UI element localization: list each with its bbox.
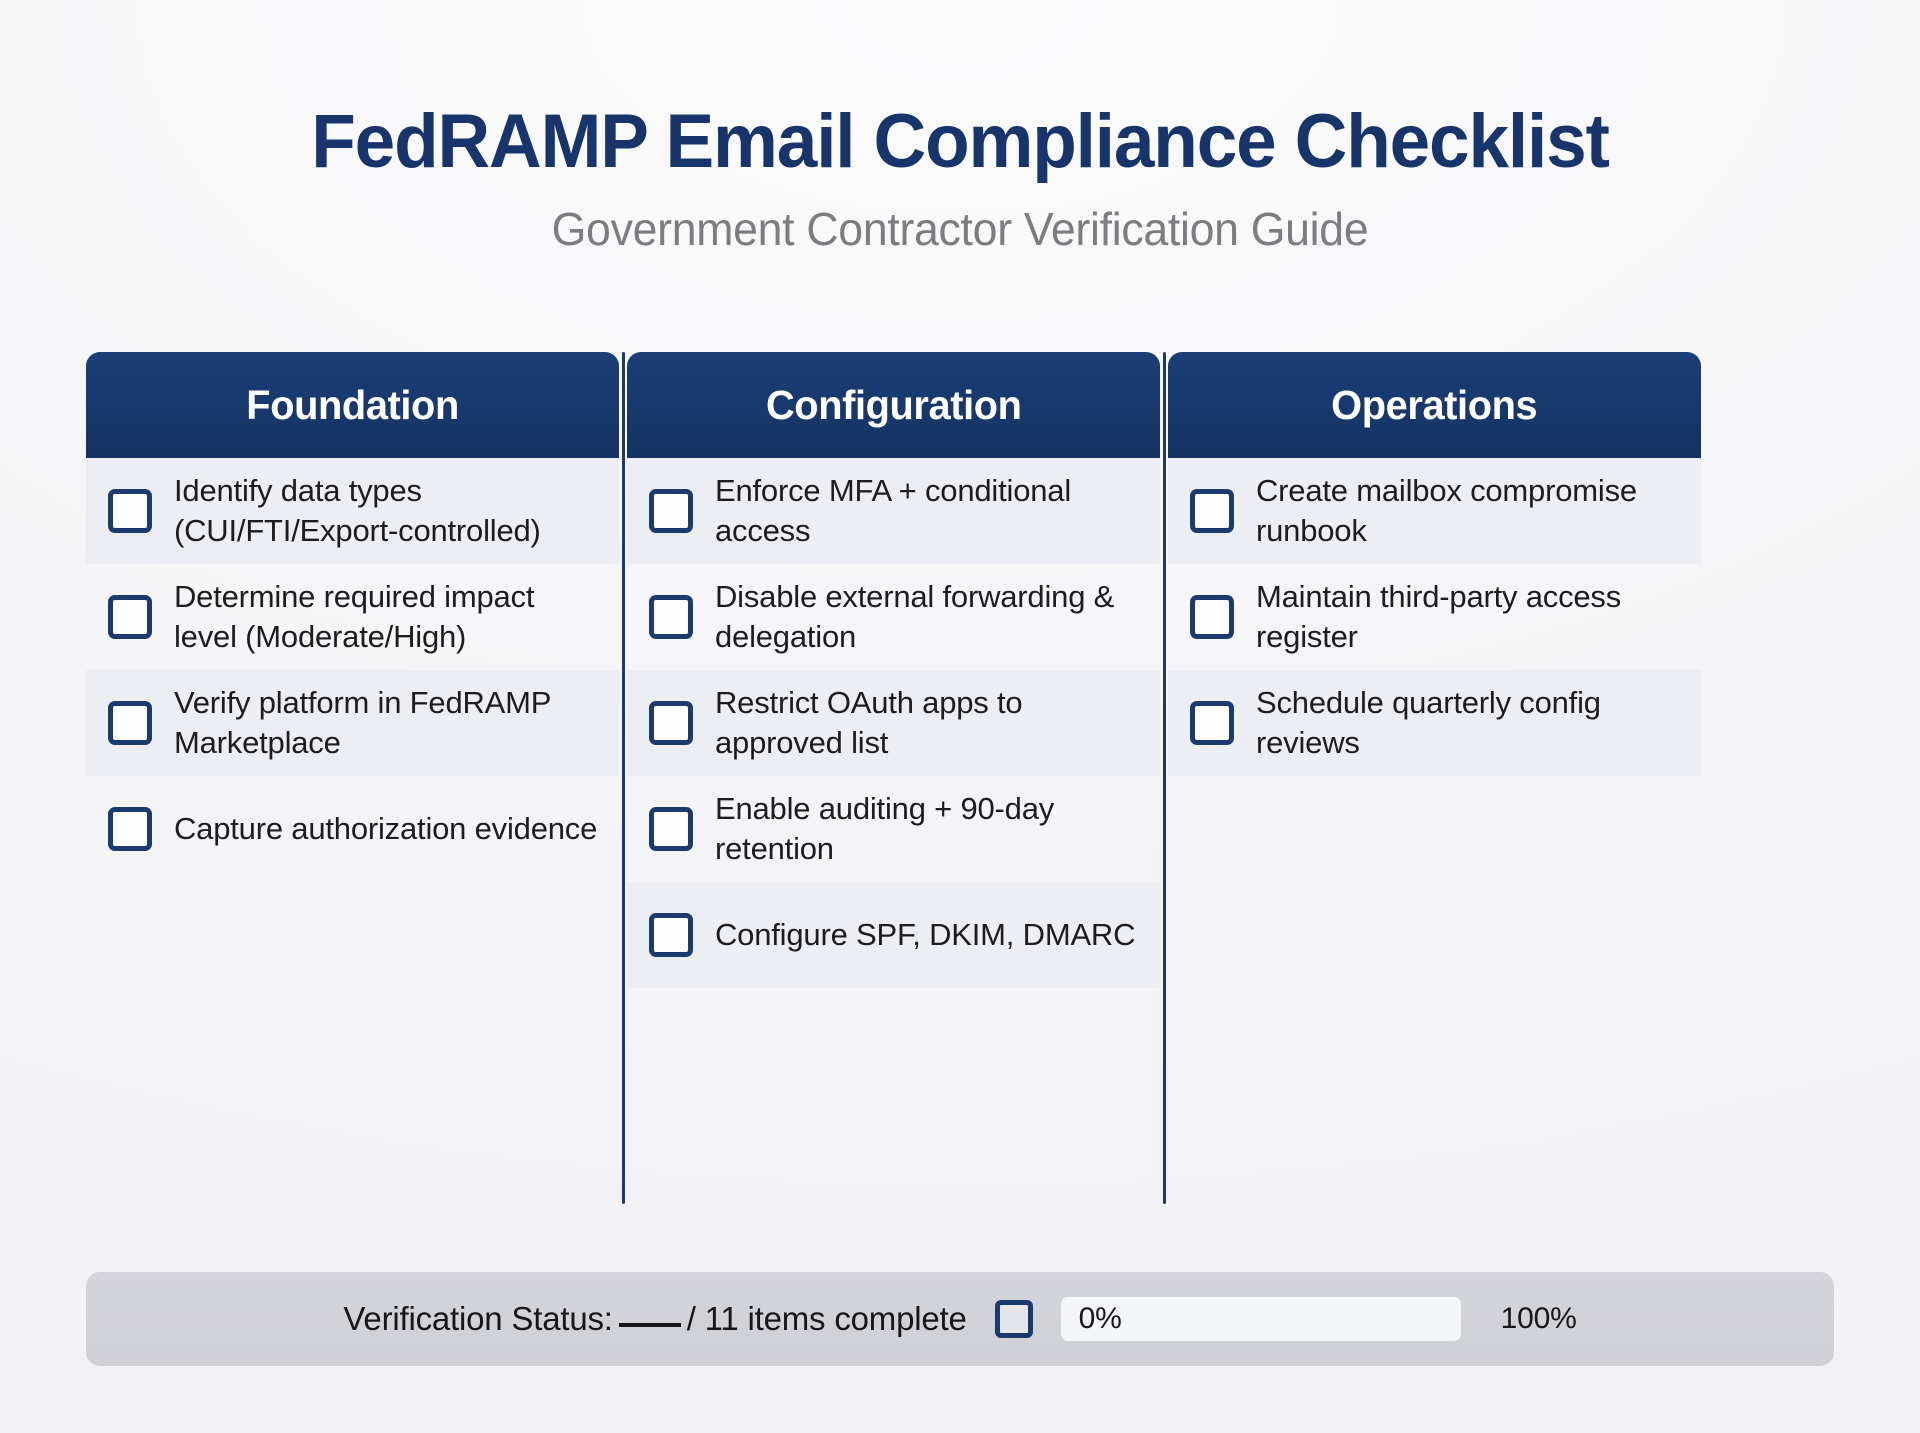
checklist-item-label: Determine required impact level (Moderat… — [174, 577, 604, 658]
checkbox-icon[interactable] — [108, 595, 152, 639]
page-title: FedRAMP Email Compliance Checklist — [38, 104, 1881, 180]
checkbox-icon[interactable] — [649, 913, 693, 957]
column-items-foundation: Identify data types (CUI/FTI/Export-cont… — [86, 458, 619, 882]
checkbox-icon[interactable] — [108, 701, 152, 745]
checklist-item-label: Schedule quarterly config reviews — [1256, 683, 1686, 764]
column-title: Configuration — [766, 382, 1022, 429]
checklist-item-label: Maintain third-party access register — [1256, 577, 1686, 658]
checklist-item-label: Restrict OAuth apps to approved list — [715, 683, 1145, 764]
checklist-item-label: Create mailbox compromise runbook — [1256, 471, 1686, 552]
column-items-configuration: Enforce MFA + conditional access Disable… — [627, 458, 1160, 988]
checklist-item-label: Verify platform in FedRAMP Marketplace — [174, 683, 604, 764]
checklist-columns: Foundation Identify data types (CUI/FTI/… — [86, 352, 1834, 1204]
status-label-prefix: Verification Status: — [343, 1300, 612, 1337]
checklist-item[interactable]: Verify platform in FedRAMP Marketplace — [86, 670, 619, 776]
page-subtitle: Government Contractor Verification Guide — [29, 206, 1891, 252]
checklist-page: FedRAMP Email Compliance Checklist Gover… — [0, 0, 1920, 1433]
checklist-item[interactable]: Disable external forwarding & delegation — [627, 564, 1160, 670]
column-header-configuration: Configuration — [627, 352, 1160, 458]
checklist-item[interactable]: Maintain third-party access register — [1168, 564, 1701, 670]
status-blank-field[interactable] — [619, 1323, 681, 1327]
status-label-suffix: / 11 items complete — [687, 1300, 967, 1337]
checklist-item[interactable]: Enforce MFA + conditional access — [627, 458, 1160, 564]
verification-status-bar: Verification Status:/ 11 items complete … — [86, 1272, 1834, 1366]
column-header-foundation: Foundation — [86, 352, 619, 458]
checkbox-icon[interactable] — [649, 595, 693, 639]
column-title: Foundation — [246, 382, 459, 429]
checkbox-icon[interactable] — [649, 701, 693, 745]
checklist-item[interactable]: Schedule quarterly config reviews — [1168, 670, 1701, 776]
checkbox-icon[interactable] — [1190, 701, 1234, 745]
checklist-item-label: Configure SPF, DKIM, DMARC — [715, 915, 1135, 955]
checklist-column-configuration: Configuration Enforce MFA + conditional … — [627, 352, 1160, 988]
checkbox-icon[interactable] — [649, 807, 693, 851]
column-title: Operations — [1331, 382, 1537, 429]
checkbox-icon[interactable] — [108, 489, 152, 533]
checklist-item[interactable]: Configure SPF, DKIM, DMARC — [627, 882, 1160, 988]
checklist-item[interactable]: Create mailbox compromise runbook — [1168, 458, 1701, 564]
page-header: FedRAMP Email Compliance Checklist Gover… — [0, 0, 1920, 252]
progress-max-label: 100% — [1489, 1302, 1577, 1336]
checklist-item[interactable]: Enable auditing + 90-day retention — [627, 776, 1160, 882]
checklist-item-label: Identify data types (CUI/FTI/Export-cont… — [174, 471, 604, 552]
column-items-operations: Create mailbox compromise runbook Mainta… — [1168, 458, 1701, 776]
column-divider — [1160, 352, 1168, 1204]
status-label: Verification Status:/ 11 items complete — [343, 1300, 966, 1338]
progress-bar[interactable]: 0% — [1061, 1297, 1461, 1341]
checklist-item[interactable]: Restrict OAuth apps to approved list — [627, 670, 1160, 776]
column-header-operations: Operations — [1168, 352, 1701, 458]
progress-min-label: 0% — [1079, 1302, 1122, 1336]
checklist-column-foundation: Foundation Identify data types (CUI/FTI/… — [86, 352, 619, 882]
status-checkbox-icon[interactable] — [995, 1300, 1033, 1338]
checkbox-icon[interactable] — [649, 489, 693, 533]
checkbox-icon[interactable] — [1190, 489, 1234, 533]
checklist-column-operations: Operations Create mailbox compromise run… — [1168, 352, 1701, 776]
checklist-item-label: Capture authorization evidence — [174, 809, 597, 849]
checkbox-icon[interactable] — [108, 807, 152, 851]
column-divider — [619, 352, 627, 1204]
checklist-item[interactable]: Identify data types (CUI/FTI/Export-cont… — [86, 458, 619, 564]
checklist-item[interactable]: Determine required impact level (Moderat… — [86, 564, 619, 670]
checklist-item-label: Enable auditing + 90-day retention — [715, 789, 1145, 870]
checklist-item-label: Enforce MFA + conditional access — [715, 471, 1145, 552]
checklist-item-label: Disable external forwarding & delegation — [715, 577, 1145, 658]
checkbox-icon[interactable] — [1190, 595, 1234, 639]
checklist-item[interactable]: Capture authorization evidence — [86, 776, 619, 882]
